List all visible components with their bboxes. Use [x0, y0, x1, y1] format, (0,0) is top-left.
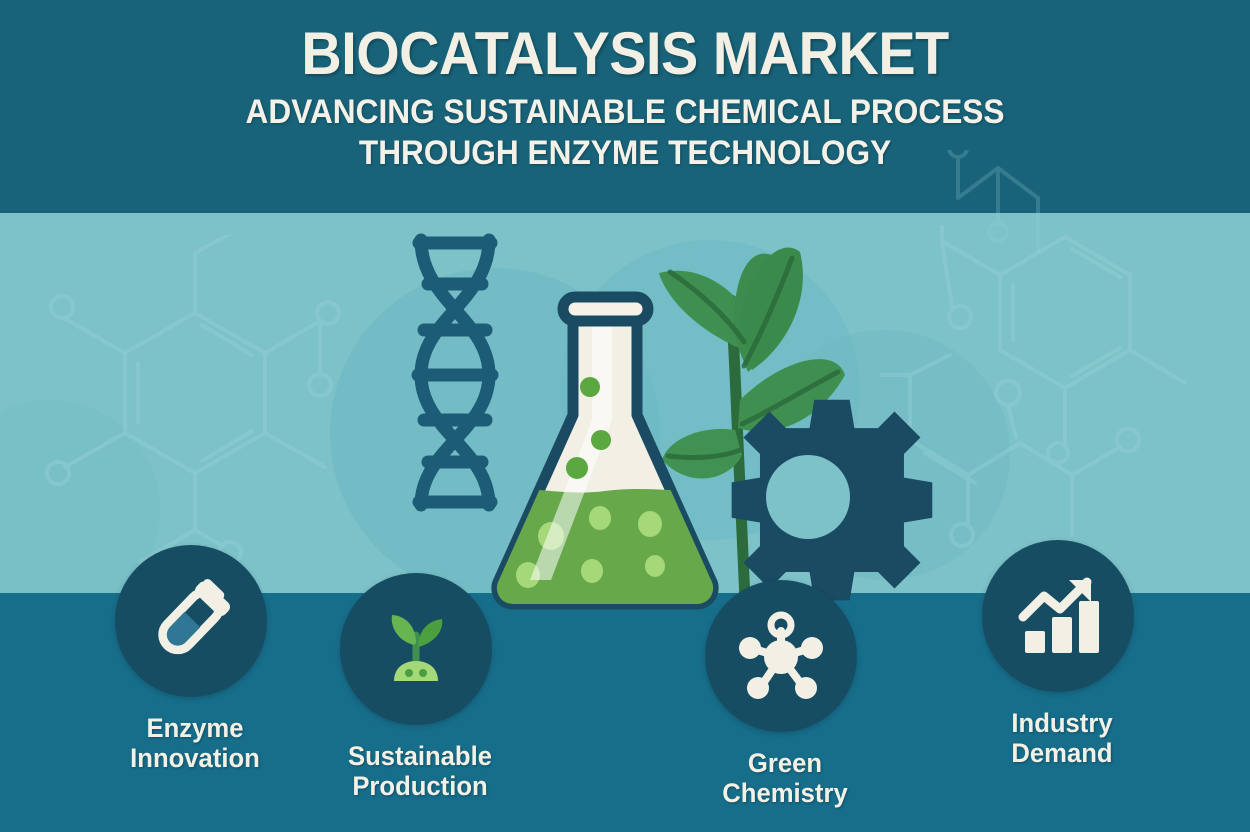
feature-label-line-1: Industry: [1011, 708, 1112, 738]
feature-item-green-chemistry[interactable]: GreenChemistry: [705, 580, 865, 808]
feature-item-sustainable-production[interactable]: SustainableProduction: [340, 573, 500, 801]
feature-label: EnzymeInnovation: [119, 713, 271, 773]
page-subtitle: ADVANCING SUSTAINABLE CHEMICAL PROCESSTH…: [246, 92, 1005, 175]
feature-icon-circle[interactable]: [340, 573, 492, 725]
feature-label-line-2: Chemistry: [722, 778, 847, 808]
feature-label-line-1: Sustainable: [348, 741, 492, 771]
feature-item-industry-demand[interactable]: IndustryDemand: [982, 540, 1142, 768]
molecule-icon: [734, 609, 828, 703]
feature-label-line-1: Green: [748, 748, 822, 778]
header-text-block: BIOCATALYSIS MARKET ADVANCING SUSTAINABL…: [0, 0, 1250, 213]
feature-icon-circle[interactable]: [705, 580, 857, 732]
feature-label: IndustryDemand: [986, 708, 1138, 768]
molecular-structure-pattern-icon: [880, 225, 1250, 585]
molecular-structure-pattern-icon: [20, 235, 360, 565]
infographic-poster: BIOCATALYSIS MARKET ADVANCING SUSTAINABL…: [0, 0, 1250, 832]
feature-label: GreenChemistry: [709, 748, 861, 808]
sprout-icon: [368, 601, 464, 697]
feature-label-line-2: Production: [352, 771, 487, 801]
feature-icon-circle[interactable]: [982, 540, 1134, 692]
subtitle-line-1: ADVANCING SUSTAINABLE CHEMICAL PROCESS: [246, 93, 1005, 131]
test-tube-icon: [145, 575, 237, 667]
feature-label: SustainableProduction: [344, 741, 496, 801]
subtitle-line-2: THROUGH ENZYME TECHNOLOGY: [359, 134, 891, 172]
feature-label-line-2: Innovation: [130, 743, 260, 773]
page-title: BIOCATALYSIS MARKET: [301, 24, 948, 84]
bar-chart-growth-icon: [1011, 569, 1105, 663]
feature-label-line-1: Enzyme: [147, 713, 244, 743]
feature-item-enzyme-innovation[interactable]: EnzymeInnovation: [115, 545, 275, 773]
feature-icon-circle[interactable]: [115, 545, 267, 697]
feature-label-line-2: Demand: [1011, 738, 1112, 768]
